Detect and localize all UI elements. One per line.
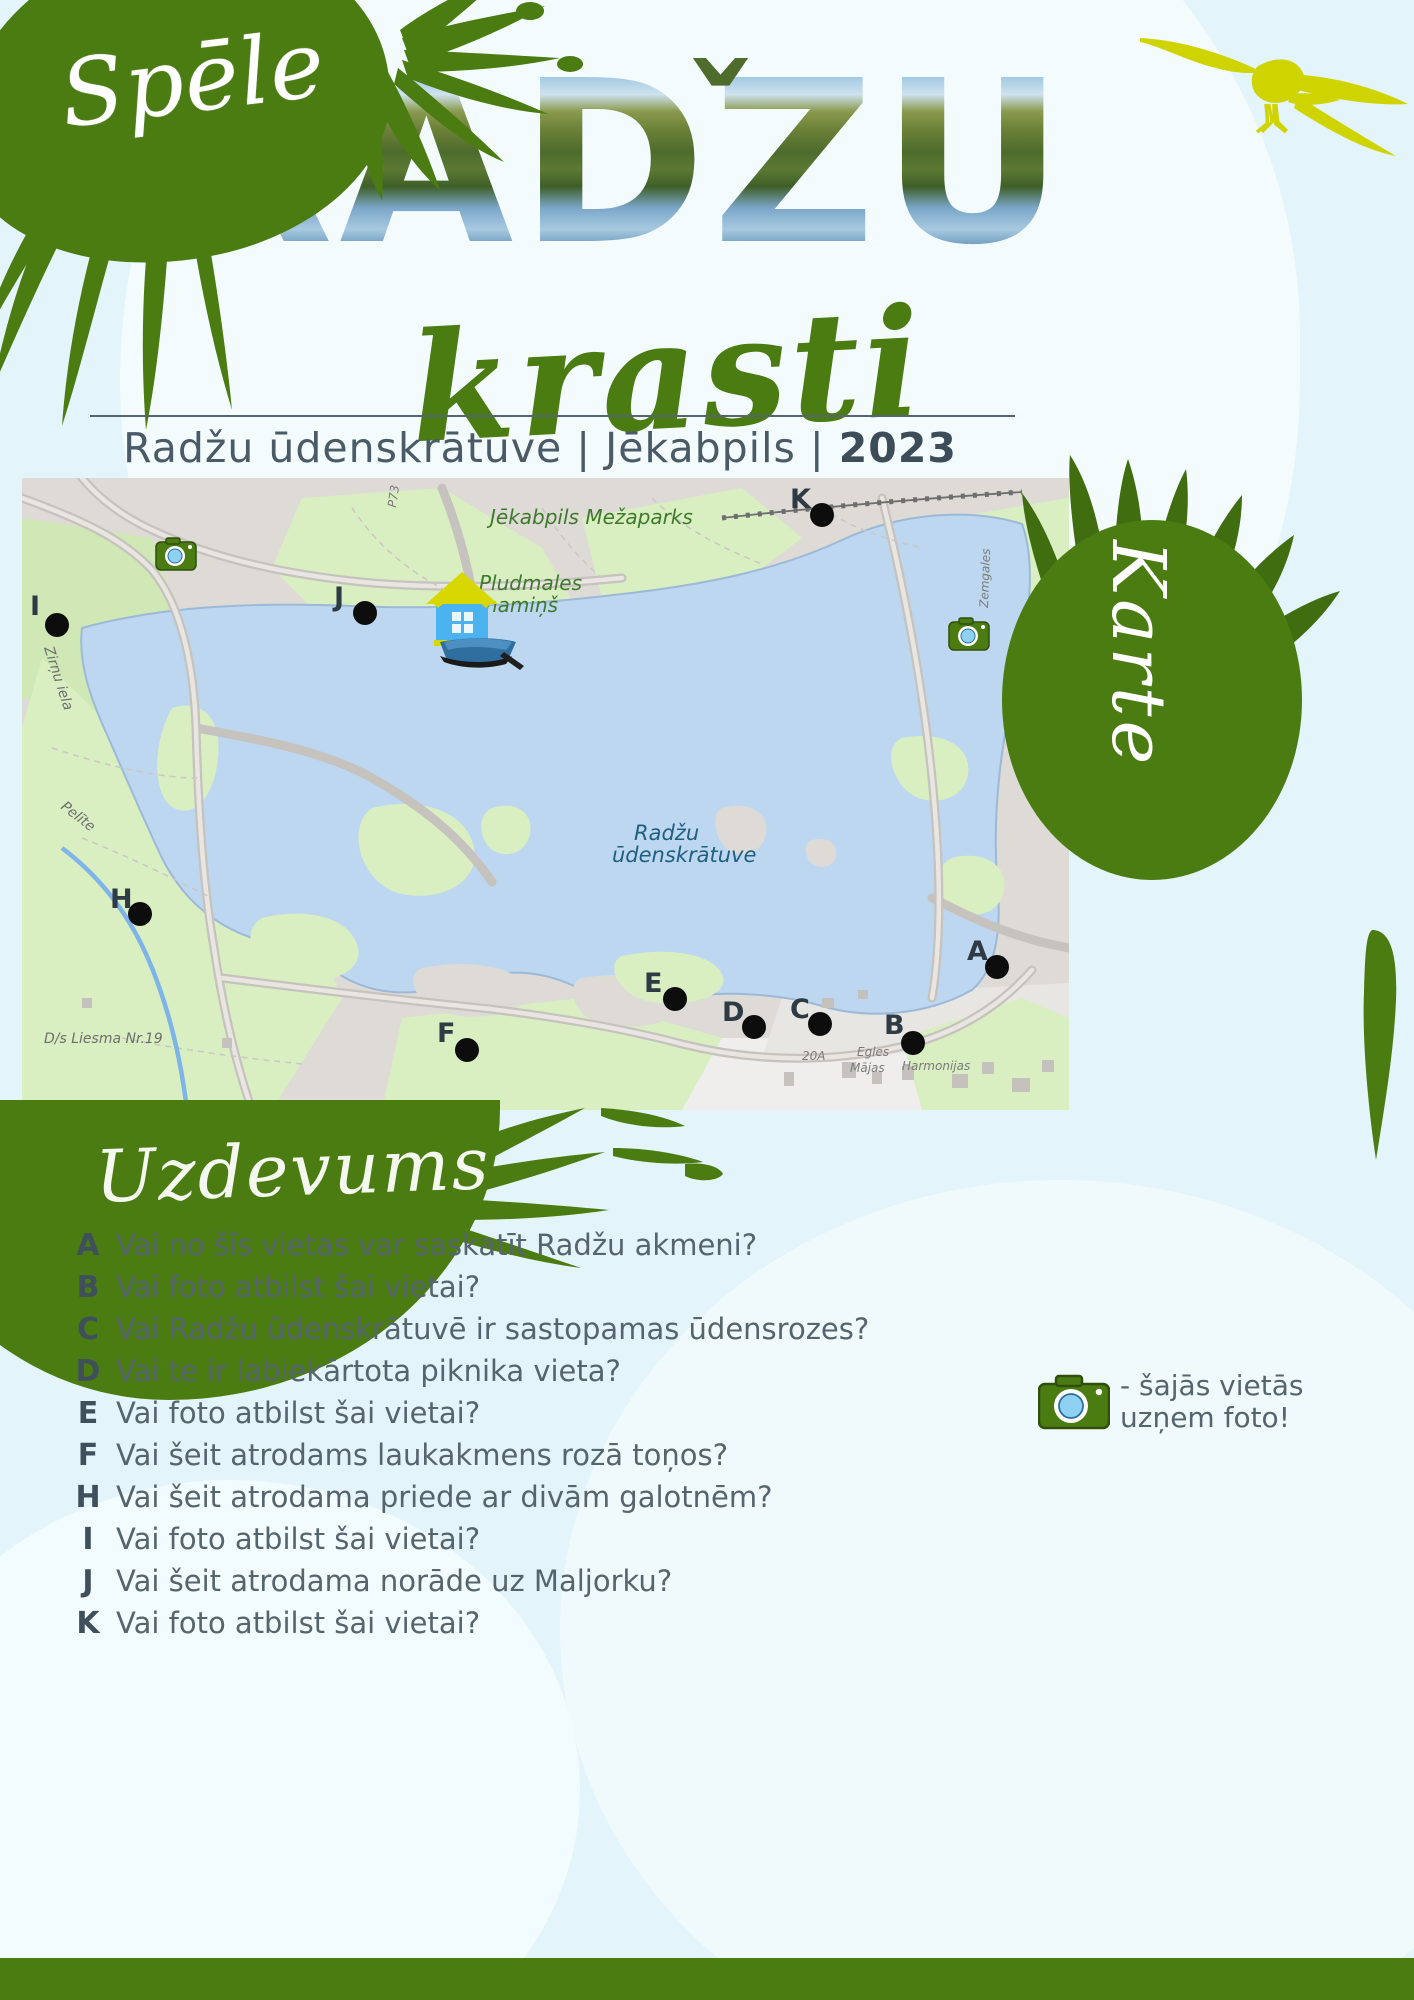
bird-icon <box>1140 10 1410 180</box>
svg-text:A: A <box>967 936 988 967</box>
task-text: Vai foto atbilst šai vietai? <box>106 1606 480 1640</box>
footer-bar <box>0 1958 1414 2000</box>
svg-text:B: B <box>884 1010 905 1041</box>
photo-legend-text: - šajās vietās uzņem foto! <box>1120 1370 1303 1434</box>
poster-subtitle: Radžu ūdenskrātuve | Jēkabpils | 2023 <box>0 424 1080 472</box>
task-item: B Vai foto atbilst šai vietai? <box>70 1270 970 1305</box>
map-label-ds-liesma: D/s Liesma Nr.19 <box>44 1031 163 1047</box>
subtitle-year: 2023 <box>839 424 957 472</box>
task-item: F Vai šeit atrodams laukakmens rozā toņo… <box>70 1438 970 1473</box>
map-label-street-zemgales: Zemgales <box>977 548 993 609</box>
task-item: C Vai Radžu ūdenskrātuvē ir sastopamas ū… <box>70 1312 970 1347</box>
map-label-beach-house-line2: namiņš <box>485 593 559 617</box>
task-item: A Vai no šīs vietas var saskatīt Radžu a… <box>70 1228 970 1263</box>
task-letter: D <box>70 1354 106 1389</box>
task-letter: H <box>70 1480 106 1515</box>
task-item: I Vai foto atbilst šai vietai? <box>70 1522 970 1557</box>
svg-text:I: I <box>30 591 40 622</box>
task-item: K Vai foto atbilst šai vietai? <box>70 1606 970 1641</box>
svg-text:E: E <box>644 968 662 999</box>
map-label-lake-line2: ūdenskrātuve <box>612 843 756 867</box>
task-text: Vai foto atbilst šai vietai? <box>106 1270 480 1304</box>
poster-root: Spēle RADZU ˇ krasti Radžu ūdenskrātuve … <box>0 0 1414 2000</box>
task-letter: J <box>70 1564 106 1599</box>
subtitle-place: Radžu ūdenskrātuve <box>123 424 562 472</box>
map-canvas[interactable]: Jēkabpils Mežaparks Radžu ūdenskrātuve P… <box>22 478 1069 1110</box>
map-label-egles-majas-1: Egles <box>857 1045 889 1059</box>
map-label-lake-line1: Radžu <box>634 821 699 845</box>
task-letter: E <box>70 1396 106 1431</box>
map-camera-icon-east[interactable] <box>949 618 989 650</box>
photo-legend: - šajās vietās uzņem foto! <box>1038 1370 1303 1434</box>
task-text: Vai te ir labiekārtota piknika vieta? <box>106 1354 621 1388</box>
task-text: Vai šeit atrodama priede ar divām galotn… <box>106 1480 773 1514</box>
task-text: Vai foto atbilst šai vietai? <box>106 1396 480 1430</box>
task-text: Vai šeit atrodams laukakmens rozā toņos? <box>106 1438 728 1472</box>
task-item: J Vai šeit atrodama norāde uz Maljorku? <box>70 1564 970 1599</box>
svg-text:F: F <box>437 1018 455 1049</box>
svg-text:J: J <box>332 582 344 613</box>
task-list: A Vai no šīs vietas var saskatīt Radžu a… <box>70 1228 970 1648</box>
task-text: Vai šeit atrodama norāde uz Maljorku? <box>106 1564 672 1598</box>
task-item: D Vai te ir labiekārtota piknika vieta? <box>70 1354 970 1389</box>
svg-text:D: D <box>722 997 744 1028</box>
reed-decoration-right <box>1352 930 1414 1170</box>
task-item: E Vai foto atbilst šai vietai? <box>70 1396 970 1431</box>
karte-badge-label: Karte <box>1095 540 1181 768</box>
task-letter: K <box>70 1606 106 1641</box>
title-divider <box>90 415 1015 417</box>
map-label-harmonijas: Harmonijas <box>902 1059 970 1073</box>
task-text: Vai Radžu ūdenskrātuvē ir sastopamas ūde… <box>106 1312 869 1346</box>
map-label-house-20a: 20A <box>802 1049 825 1063</box>
task-letter: F <box>70 1438 106 1473</box>
map-label-egles-majas-2: Mājas <box>850 1061 885 1075</box>
task-text: Vai foto atbilst šai vietai? <box>106 1522 480 1556</box>
camera-icon <box>1038 1374 1110 1430</box>
map-label-beach-house-line1: Pludmales <box>479 571 582 595</box>
task-letter: I <box>70 1522 106 1557</box>
svg-text:K: K <box>790 484 812 515</box>
subtitle-separator-1: | <box>576 424 591 472</box>
svg-text:H: H <box>110 884 133 915</box>
uzdevums-heading: Uzdevums <box>94 1121 492 1219</box>
task-item: H Vai šeit atrodama priede ar divām galo… <box>70 1480 970 1515</box>
map-camera-icon-northwest[interactable] <box>156 538 196 570</box>
map-label-park: Jēkabpils Mežaparks <box>486 505 693 529</box>
subtitle-city: Jēkabpils <box>605 424 796 472</box>
subtitle-separator-2: | <box>810 424 825 472</box>
task-letter: C <box>70 1312 106 1347</box>
map-container[interactable]: Jēkabpils Mežaparks Radžu ūdenskrātuve P… <box>22 478 1069 1110</box>
svg-text:C: C <box>790 994 810 1025</box>
task-letter: B <box>70 1270 106 1305</box>
task-text: Vai no šīs vietas var saskatīt Radžu akm… <box>106 1228 757 1262</box>
task-letter: A <box>70 1228 106 1263</box>
